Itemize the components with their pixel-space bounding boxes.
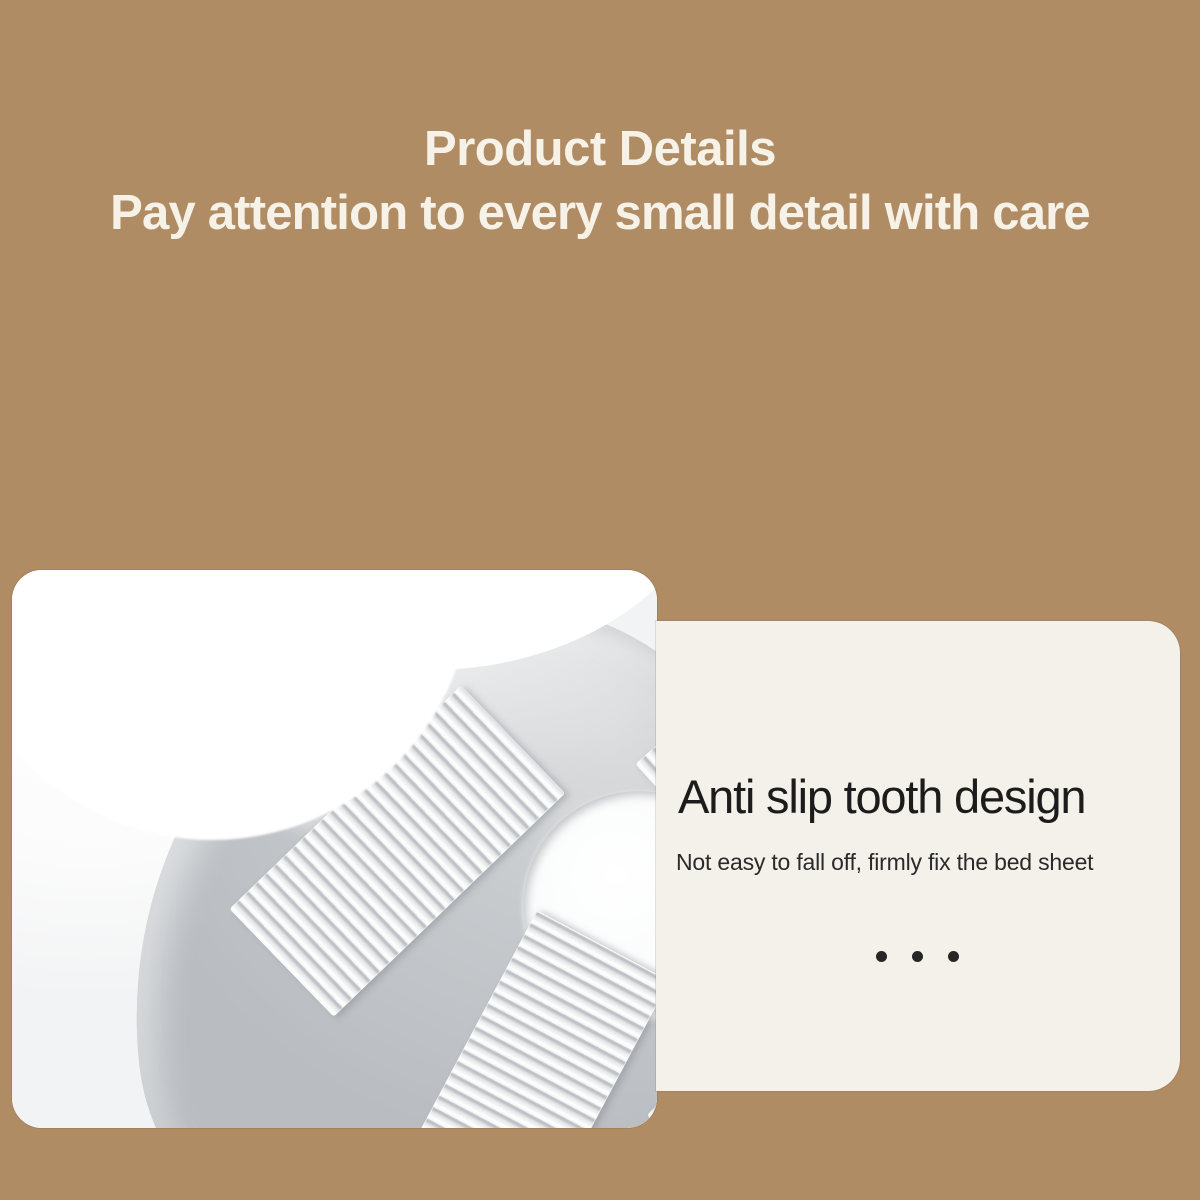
product-detail-banner: Product Details Pay attention to every s… [0,0,1200,1200]
carousel-dot-1[interactable] [876,951,887,962]
feature-subtitle: Not easy to fall off, firmly fix the bed… [676,849,1176,876]
banner-header: Product Details Pay attention to every s… [0,118,1200,244]
product-photo [12,570,657,1128]
headline-primary: Product Details [0,118,1200,180]
feature-text-card: Anti slip tooth design Not easy to fall … [656,621,1180,1091]
carousel-dot-3[interactable] [948,951,959,962]
headline-secondary: Pay attention to every small detail with… [0,182,1200,244]
carousel-dots [876,951,959,962]
carousel-dot-2[interactable] [912,951,923,962]
feature-title: Anti slip tooth design [678,769,1178,824]
product-photo-card [12,570,657,1128]
